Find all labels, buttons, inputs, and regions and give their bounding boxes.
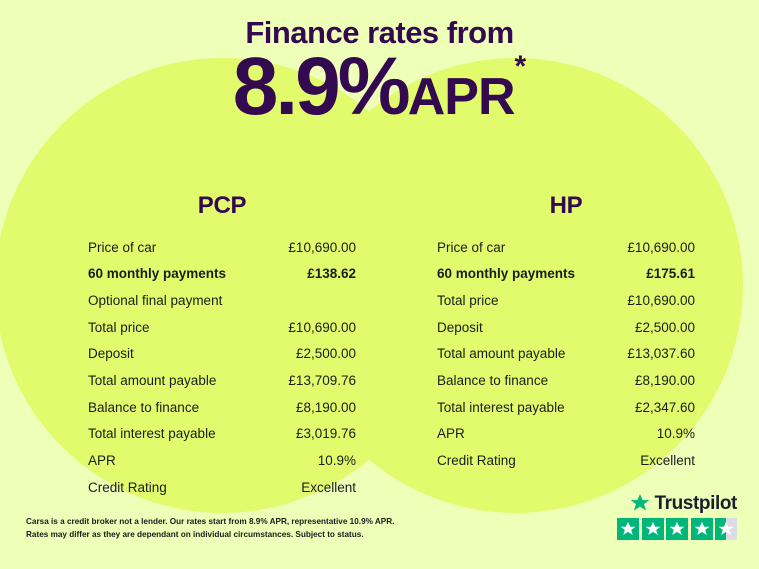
plan-title-pcp: PCP bbox=[88, 192, 356, 220]
table-row: Total price£10,690.00 bbox=[437, 287, 695, 314]
rating-star-full bbox=[666, 518, 688, 540]
table-row: Total amount payable£13,709.76 bbox=[88, 367, 356, 394]
table-row: Balance to finance£8,190.00 bbox=[88, 394, 356, 421]
table-row: Deposit£2,500.00 bbox=[437, 314, 695, 341]
row-label: Price of car bbox=[88, 241, 156, 255]
table-row: Total interest payable£2,347.60 bbox=[437, 394, 695, 421]
row-label: Balance to finance bbox=[88, 401, 199, 415]
row-value: £13,709.76 bbox=[288, 374, 356, 388]
row-value: £10,690.00 bbox=[288, 241, 356, 255]
rating-star-full bbox=[642, 518, 664, 540]
row-value: £3,019.76 bbox=[296, 427, 356, 441]
row-value: £8,190.00 bbox=[635, 374, 695, 388]
row-value: £175.61 bbox=[646, 267, 695, 281]
trustpilot-rating-stars bbox=[609, 518, 737, 540]
row-label: Balance to finance bbox=[437, 374, 548, 388]
row-value: £10,690.00 bbox=[627, 294, 695, 308]
content-layer: Finance rates from 8.9%APR* PCP Price of… bbox=[0, 0, 759, 569]
promo-banner: Finance rates from 8.9%APR* PCP Price of… bbox=[0, 0, 759, 569]
table-row: Price of car£10,690.00 bbox=[437, 234, 695, 261]
row-value: £13,037.60 bbox=[627, 347, 695, 361]
rating-star-full bbox=[691, 518, 713, 540]
row-label: Total amount payable bbox=[88, 374, 216, 388]
table-row: Total price£10,690.00 bbox=[88, 314, 356, 341]
row-label: Total interest payable bbox=[88, 427, 216, 441]
disclaimer-line-1: Carsa is a credit broker not a lender. O… bbox=[26, 516, 426, 529]
row-label: Deposit bbox=[437, 321, 483, 335]
table-row: APR10.9% bbox=[88, 448, 356, 475]
row-label: 60 monthly payments bbox=[437, 267, 575, 281]
row-value: £2,347.60 bbox=[635, 401, 695, 415]
header: Finance rates from 8.9%APR* bbox=[0, 16, 759, 128]
table-row: Credit RatingExcellent bbox=[437, 448, 695, 475]
row-value: Excellent bbox=[301, 481, 356, 495]
rate-value: 8.9% bbox=[233, 41, 408, 132]
plan-rows-pcp: Price of car£10,690.0060 monthly payment… bbox=[88, 234, 356, 501]
table-row: Total amount payable£13,037.60 bbox=[437, 341, 695, 368]
plan-title-hp: HP bbox=[437, 192, 695, 220]
trustpilot-brand: Trustpilot bbox=[609, 492, 737, 514]
table-row: Credit RatingExcellent bbox=[88, 474, 356, 501]
rating-star-half bbox=[715, 518, 737, 540]
plan-card-hp: HP Price of car£10,690.0060 monthly paym… bbox=[437, 192, 695, 474]
trustpilot-wordmark: Trustpilot bbox=[654, 494, 737, 513]
table-row: Balance to finance£8,190.00 bbox=[437, 367, 695, 394]
trustpilot-widget[interactable]: Trustpilot bbox=[609, 492, 737, 540]
trustpilot-star-icon bbox=[630, 493, 650, 513]
table-row: Price of car£10,690.00 bbox=[88, 234, 356, 261]
row-value: Excellent bbox=[640, 454, 695, 468]
rating-star-full bbox=[617, 518, 639, 540]
asterisk-marker: * bbox=[515, 50, 527, 83]
row-value: £2,500.00 bbox=[635, 321, 695, 335]
row-value: £8,190.00 bbox=[296, 401, 356, 415]
row-label: Total price bbox=[88, 321, 150, 335]
row-label: Price of car bbox=[437, 241, 505, 255]
row-value: £10,690.00 bbox=[627, 241, 695, 255]
row-label: APR bbox=[88, 454, 116, 468]
table-row: 60 monthly payments£175.61 bbox=[437, 261, 695, 288]
row-label: Credit Rating bbox=[88, 481, 167, 495]
table-row: 60 monthly payments£138.62 bbox=[88, 261, 356, 288]
row-value: £2,500.00 bbox=[296, 347, 356, 361]
disclaimer-text: Carsa is a credit broker not a lender. O… bbox=[26, 516, 426, 541]
table-row: Deposit£2,500.00 bbox=[88, 341, 356, 368]
row-label: Total amount payable bbox=[437, 347, 565, 361]
row-label: 60 monthly payments bbox=[88, 267, 226, 281]
row-value: 10.9% bbox=[657, 427, 695, 441]
rate-line: 8.9%APR* bbox=[0, 46, 759, 128]
table-row: Total interest payable£3,019.76 bbox=[88, 421, 356, 448]
plan-rows-hp: Price of car£10,690.0060 monthly payment… bbox=[437, 234, 695, 474]
row-label: Credit Rating bbox=[437, 454, 516, 468]
table-row: Optional final payment bbox=[88, 287, 356, 314]
plan-card-pcp: PCP Price of car£10,690.0060 monthly pay… bbox=[88, 192, 356, 501]
row-label: Optional final payment bbox=[88, 294, 222, 308]
row-label: Deposit bbox=[88, 347, 134, 361]
rate-unit: APR bbox=[408, 68, 515, 126]
row-value: £10,690.00 bbox=[288, 321, 356, 335]
row-label: Total interest payable bbox=[437, 401, 565, 415]
row-label: Total price bbox=[437, 294, 499, 308]
row-value: £138.62 bbox=[307, 267, 356, 281]
row-value: 10.9% bbox=[318, 454, 356, 468]
row-label: APR bbox=[437, 427, 465, 441]
disclaimer-line-2: Rates may differ as they are dependant o… bbox=[26, 529, 426, 542]
table-row: APR10.9% bbox=[437, 421, 695, 448]
